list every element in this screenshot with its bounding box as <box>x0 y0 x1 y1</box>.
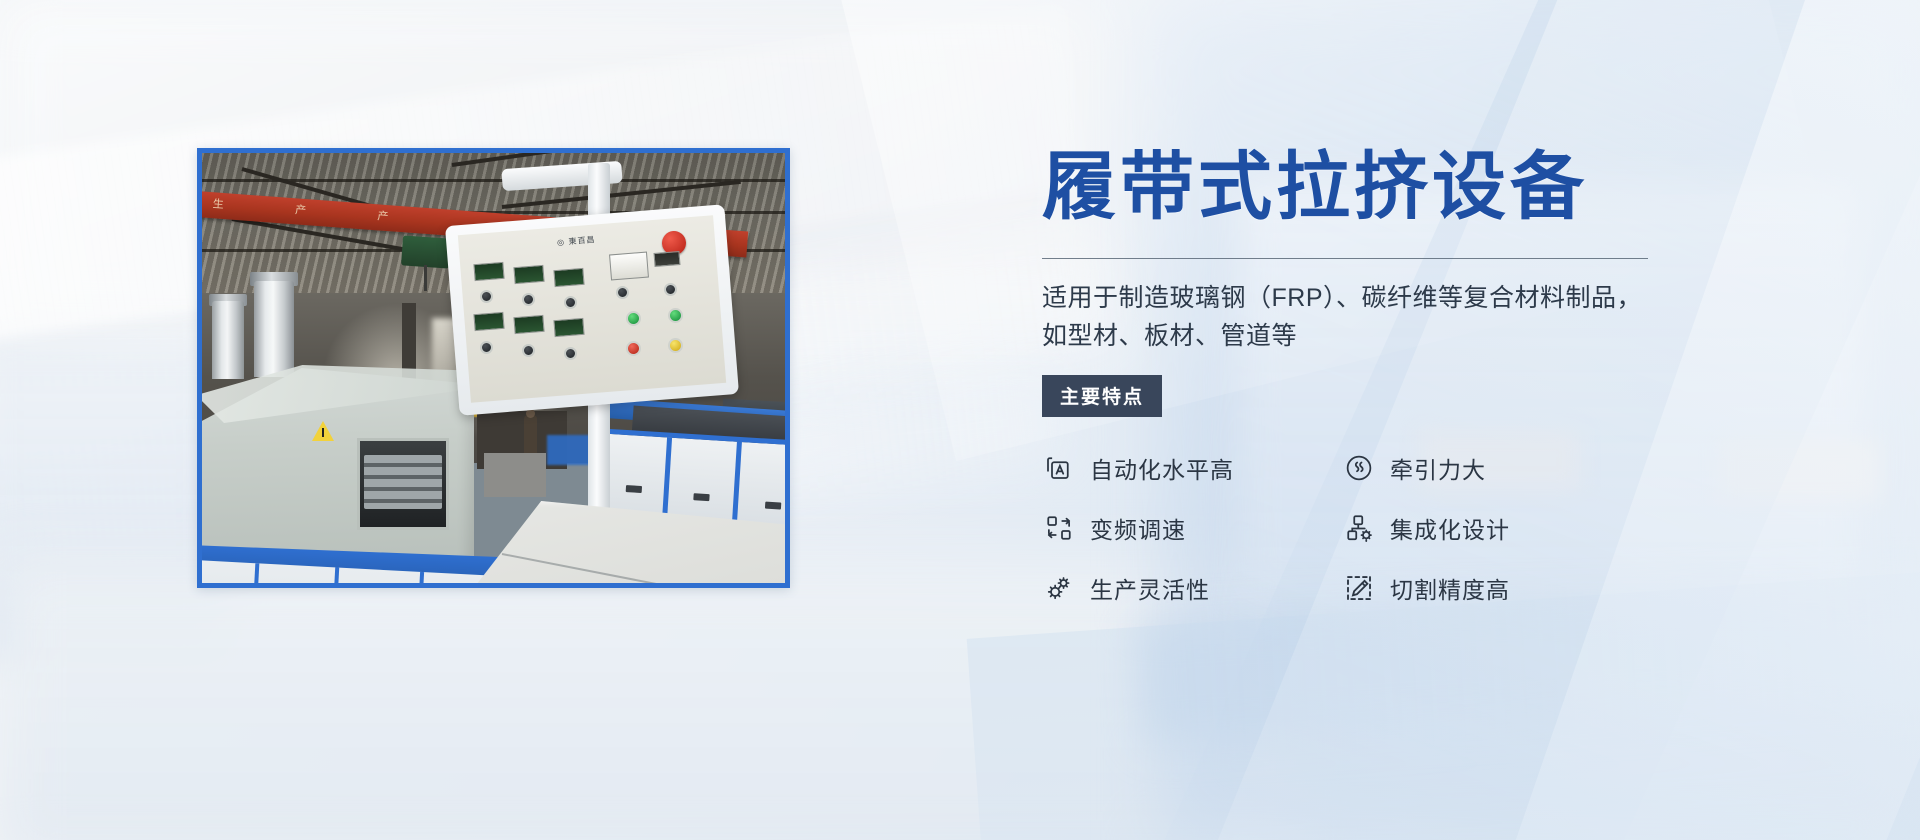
photo-digital-display <box>553 268 584 287</box>
precision-pen-icon <box>1342 571 1376 605</box>
feature-item-automation: 自动化水平高 <box>1042 443 1328 493</box>
photo-worker <box>524 415 537 455</box>
photo-digital-display <box>513 315 544 334</box>
photo-cabinet-handle <box>693 493 709 501</box>
feature-item-flexibility: 生产灵活性 <box>1042 563 1328 613</box>
integration-gear-icon <box>1342 511 1376 545</box>
feature-label: 自动化水平高 <box>1090 451 1234 485</box>
photo-press-rollers <box>364 455 442 509</box>
photo-cylinder <box>212 301 244 379</box>
feature-label: 切割精度高 <box>1390 571 1510 605</box>
photo-control-knob <box>480 290 493 303</box>
photo-indicator-lamp-green <box>626 311 641 326</box>
photo-digital-display <box>513 265 544 284</box>
photo-digital-display <box>653 251 680 267</box>
photo-cabinet-handle <box>626 485 642 493</box>
photo-indicator-lamp-yellow <box>668 338 683 353</box>
photo-digital-display <box>473 262 504 281</box>
photo-cabinet-divider <box>414 572 424 588</box>
feature-item-integration: 集成化设计 <box>1342 503 1628 553</box>
feature-item-cutting: 切割精度高 <box>1342 563 1628 613</box>
photo-indicator-lamp-green <box>668 308 683 323</box>
photo-control-knob <box>522 293 535 306</box>
feature-label: 集成化设计 <box>1390 511 1510 545</box>
photo-cabinet-divider <box>329 567 339 588</box>
photo-crane-hook <box>424 265 427 291</box>
photo-digital-display <box>553 318 584 337</box>
feature-item-traction: 牵引力大 <box>1342 443 1628 493</box>
circle-waves-icon <box>1342 451 1376 485</box>
feature-label: 变频调速 <box>1090 511 1186 545</box>
feature-item-frequency: 变频调速 <box>1042 503 1328 553</box>
product-banner: 生 产 产 <box>0 0 1920 840</box>
feature-list: 自动化水平高 牵引力大 <box>1042 443 1642 613</box>
title-divider <box>1042 258 1648 259</box>
product-description: 适用于制造玻璃钢（FRP）、碳纤维等复合材料制品，如型材、板材、管道等 <box>1042 280 1662 355</box>
status-badge: 主要特点 <box>1042 375 1162 417</box>
feature-label: 牵引力大 <box>1390 451 1486 485</box>
photo-control-knob <box>664 283 677 296</box>
banner-content: 履带式拉挤设备 适用于制造玻璃钢（FRP）、碳纤维等复合材料制品，如型材、板材、… <box>1042 150 1782 613</box>
photo-cabinet-divider <box>249 563 259 588</box>
photo-cylinder <box>254 281 294 377</box>
photo-control-knob <box>564 347 577 360</box>
background-machine-blur <box>0 330 230 660</box>
photo-indicator-lamp-red <box>626 341 641 356</box>
photo-digital-display <box>473 312 504 331</box>
photo-control-knob <box>616 286 629 299</box>
feature-label: 生产灵活性 <box>1090 571 1210 605</box>
product-photo: 生 产 产 <box>197 148 790 588</box>
photo-analog-meter <box>609 252 649 281</box>
photo-far-box <box>484 453 546 497</box>
photo-control-knob <box>564 296 577 309</box>
gears-icon <box>1042 571 1076 605</box>
photo-control-knob <box>480 341 493 354</box>
photo-cabinet-handle <box>765 502 781 510</box>
page-title: 履带式拉挤设备 <box>1042 150 1782 224</box>
photo-crane-hoist <box>401 235 451 268</box>
photo-control-knob <box>522 344 535 357</box>
letter-a-in-box-icon <box>1042 451 1076 485</box>
speed-nodes-icon <box>1042 511 1076 545</box>
